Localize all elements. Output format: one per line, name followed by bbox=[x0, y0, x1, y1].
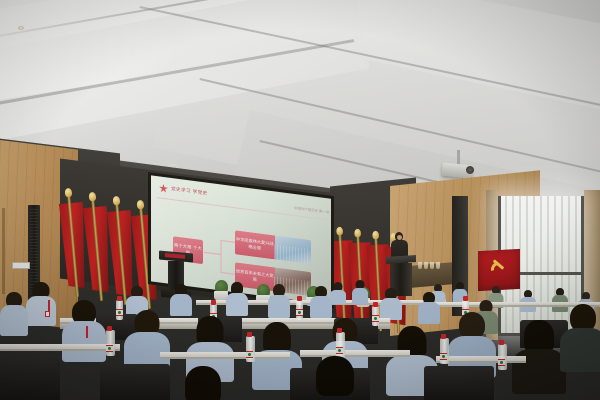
attendee bbox=[62, 300, 106, 362]
door-edge bbox=[2, 208, 5, 294]
cup bbox=[418, 262, 422, 269]
conference-hall-photo: 党史学习 学党史 中国共产党历史 第一讲 两个大局 个大局 中华民族伟大复兴战略… bbox=[0, 0, 600, 400]
chair[interactable] bbox=[100, 364, 170, 400]
attendee bbox=[268, 284, 290, 318]
chair[interactable] bbox=[0, 356, 60, 400]
water-bottle[interactable] bbox=[106, 330, 115, 356]
attendee bbox=[330, 282, 346, 304]
hammer-and-sickle-icon bbox=[490, 261, 508, 278]
cup bbox=[424, 262, 428, 269]
av-wall-plate[interactable] bbox=[12, 262, 30, 269]
attendee bbox=[380, 288, 402, 320]
water-bottle[interactable] bbox=[246, 336, 255, 362]
lanyard bbox=[86, 326, 88, 338]
cup-row bbox=[418, 262, 448, 269]
attendee bbox=[300, 356, 370, 400]
attendee bbox=[310, 286, 332, 318]
water-bottle[interactable] bbox=[372, 306, 379, 326]
water-bottle[interactable] bbox=[296, 300, 303, 320]
attendee bbox=[352, 280, 368, 304]
attendee bbox=[418, 292, 440, 324]
desk bbox=[436, 356, 526, 363]
desk bbox=[160, 352, 290, 359]
party-flag-banner bbox=[478, 249, 520, 291]
water-bottle[interactable] bbox=[336, 332, 345, 358]
chair[interactable] bbox=[424, 366, 494, 400]
attendee bbox=[560, 304, 600, 372]
attendee bbox=[0, 292, 28, 336]
water-bottle[interactable] bbox=[498, 344, 507, 370]
presenter-face bbox=[397, 235, 402, 240]
downlight-icon bbox=[18, 26, 24, 30]
attendee bbox=[26, 282, 56, 326]
water-bottle[interactable] bbox=[440, 338, 449, 364]
cup bbox=[430, 262, 434, 269]
lectern-logo-plate bbox=[165, 253, 185, 259]
water-bottle[interactable] bbox=[116, 300, 123, 320]
cup bbox=[436, 262, 440, 269]
attendee bbox=[170, 284, 192, 316]
attendee bbox=[226, 282, 248, 316]
attendee bbox=[170, 366, 236, 400]
attendee bbox=[520, 290, 536, 312]
badge bbox=[45, 311, 50, 317]
desk bbox=[0, 344, 120, 351]
